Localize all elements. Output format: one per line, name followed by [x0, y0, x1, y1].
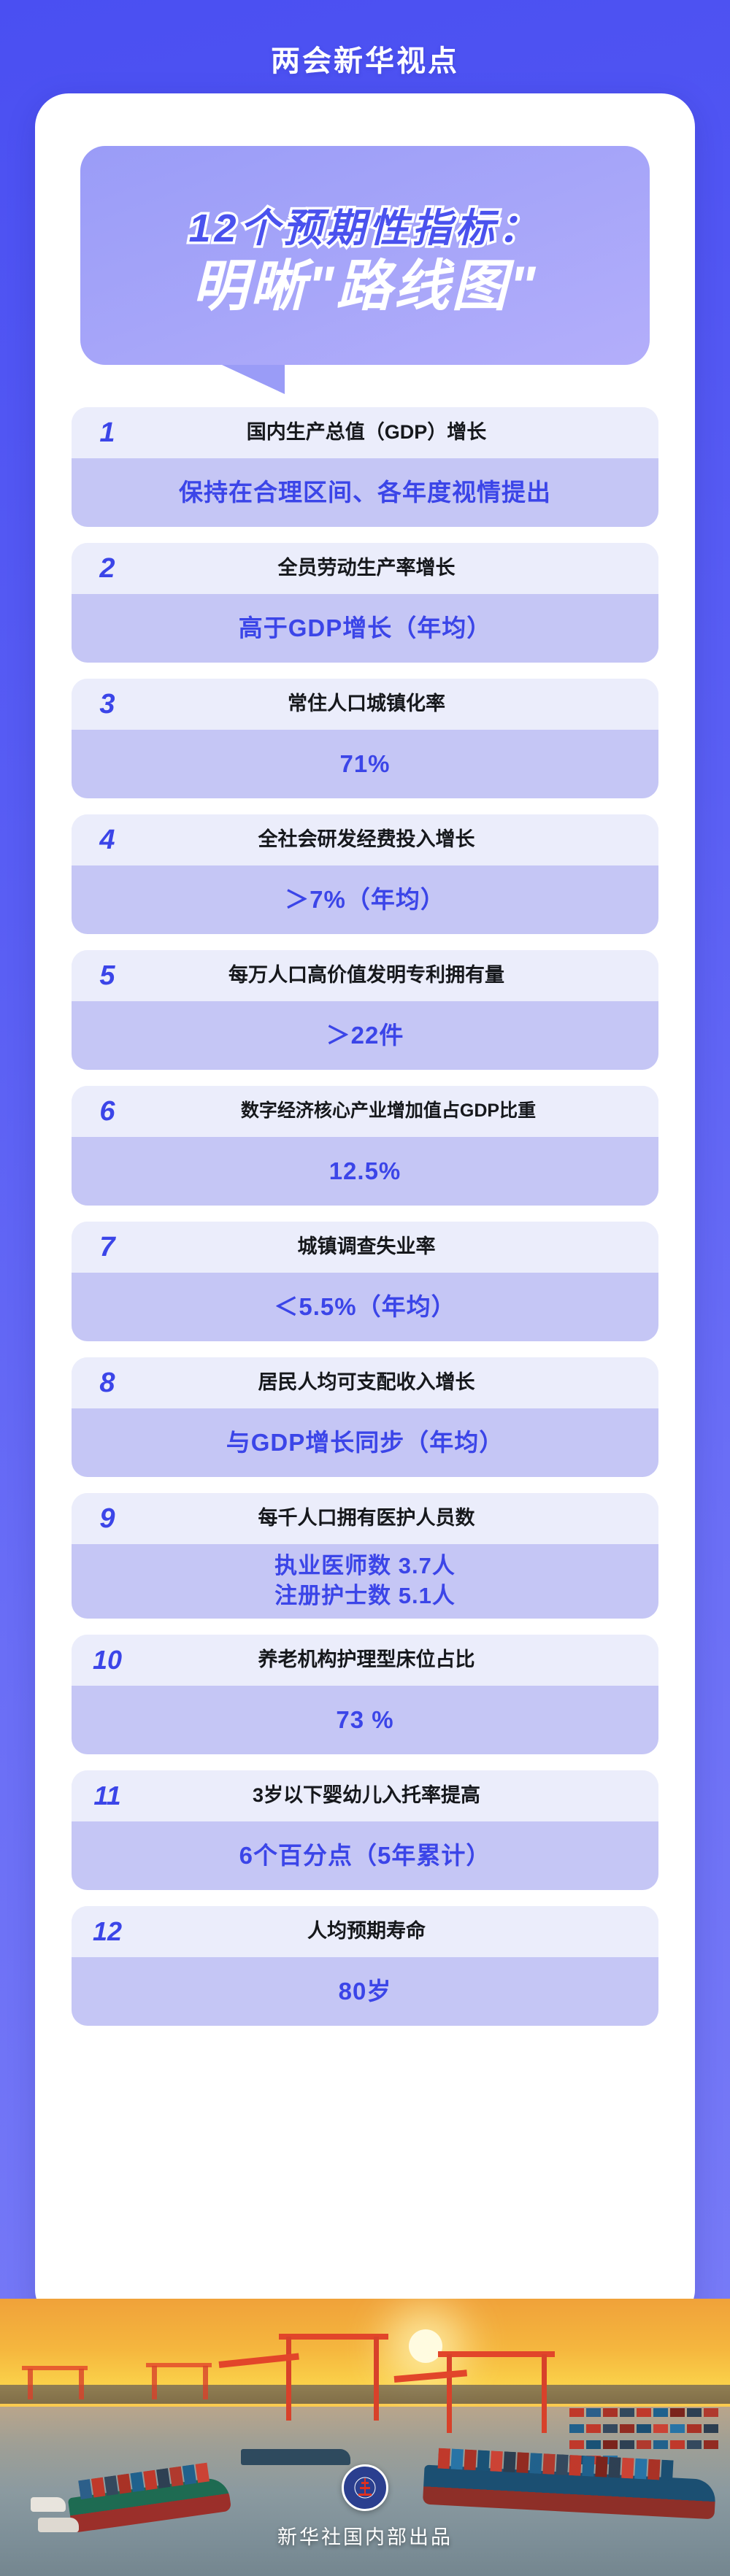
indicator-label: 常住人口城镇化率	[137, 692, 647, 717]
crane-leg	[203, 2366, 208, 2399]
indicator-header: 10养老机构护理型床位占比	[72, 1635, 658, 1686]
crane-leg	[28, 2369, 33, 2399]
indicator-label: 全员劳动生产率增长	[137, 556, 647, 581]
indicator-item: 9每千人口拥有医护人员数执业医师数 3.7人 注册护士数 5.1人	[72, 1493, 658, 1619]
indicator-item: 7城镇调查失业率＜5.5%（年均）	[72, 1222, 658, 1341]
indicator-item: 12人均预期寿命80岁	[72, 1906, 658, 2026]
infographic-page: 两会新华视点 12个预期性指标： 明晰"路线图" 1国内生产总值（GDP）增长保…	[0, 0, 730, 2576]
indicator-item: 10养老机构护理型床位占比73 %	[72, 1635, 658, 1754]
indicator-header: 2全员劳动生产率增长	[72, 543, 658, 594]
indicator-item: 2全员劳动生产率增长高于GDP增长（年均）	[72, 543, 658, 663]
indicator-value-row: ＞22件	[72, 1001, 658, 1070]
indicator-number: 11	[77, 1781, 137, 1811]
indicator-label: 城镇调查失业率	[137, 1235, 647, 1260]
indicator-value-row: 与GDP增长同步（年均）	[72, 1408, 658, 1477]
indicator-header: 6数字经济核心产业增加值占GDP比重	[72, 1086, 658, 1137]
indicator-header: 5每万人口高价值发明专利拥有量	[72, 950, 658, 1001]
indicator-value-row: 高于GDP增长（年均）	[72, 594, 658, 663]
indicator-label: 数字经济核心产业增加值占GDP比重	[137, 1100, 647, 1122]
crane-leg	[152, 2366, 157, 2399]
title-line-1: 12个预期性指标：	[188, 196, 541, 253]
header-title: 两会新华视点	[271, 37, 459, 80]
indicator-number: 4	[77, 825, 137, 856]
indicator-header: 4全社会研发经费投入增长	[72, 814, 658, 865]
indicator-list: 1国内生产总值（GDP）增长保持在合理区间、各年度视情提出2全员劳动生产率增长高…	[72, 407, 658, 2042]
indicator-value: 保持在合理区间、各年度视情提出	[179, 477, 551, 509]
gantry-crane	[279, 2334, 388, 2340]
indicator-item: 4全社会研发经费投入增长＞7%（年均）	[72, 814, 658, 934]
footer-text: 新华社国内部出品	[277, 2521, 453, 2550]
indicator-number: 9	[77, 1503, 137, 1535]
indicator-header: 9每千人口拥有医护人员数	[72, 1493, 658, 1544]
indicator-label: 每千人口拥有医护人员数	[137, 1506, 647, 1531]
indicator-item: 1国内生产总值（GDP）增长保持在合理区间、各年度视情提出	[72, 407, 658, 527]
indicator-value-row: 12.5%	[72, 1137, 658, 1206]
indicator-item: 113岁以下婴幼儿入托率提高6个百分点（5年累计）	[72, 1770, 658, 1890]
indicator-value: 12.5%	[329, 1155, 401, 1187]
crane-leg	[286, 2337, 291, 2421]
indicator-value-row: ＞7%（年均）	[72, 865, 658, 934]
indicator-value-row: 80岁	[72, 1957, 658, 2026]
footer: 新华社国内部出品	[0, 2464, 730, 2550]
crane-leg	[542, 2354, 547, 2433]
barge	[241, 2449, 350, 2465]
indicator-value-row: 保持在合理区间、各年度视情提出	[72, 458, 658, 527]
indicator-value: ＞22件	[326, 1019, 404, 1052]
indicator-label: 每万人口高价值发明专利拥有量	[137, 963, 647, 988]
crane-leg	[374, 2337, 379, 2421]
indicator-header: 113岁以下婴幼儿入托率提高	[72, 1770, 658, 1821]
indicator-value-row: 执业医师数 3.7人 注册护士数 5.1人	[72, 1544, 658, 1619]
indicator-header: 7城镇调查失业率	[72, 1222, 658, 1273]
indicator-header: 8居民人均可支配收入增长	[72, 1357, 658, 1408]
indicator-label: 国内生产总值（GDP）增长	[137, 420, 647, 445]
indicator-value-row: 6个百分点（5年累计）	[72, 1821, 658, 1890]
indicator-number: 2	[77, 553, 137, 585]
indicator-item: 6数字经济核心产业增加值占GDP比重12.5%	[72, 1086, 658, 1206]
far-shore	[0, 2385, 730, 2404]
title-line-2: 明晰"路线图"	[192, 258, 537, 316]
indicator-value-row: ＜5.5%（年均）	[72, 1273, 658, 1341]
indicator-value: 6个百分点（5年累计）	[239, 1840, 491, 1872]
indicator-item: 8居民人均可支配收入增长与GDP增长同步（年均）	[72, 1357, 658, 1477]
indicator-number: 3	[77, 689, 137, 720]
indicator-value-row: 73 %	[72, 1686, 658, 1754]
indicator-header: 12人均预期寿命	[72, 1906, 658, 1957]
content-panel: 12个预期性指标： 明晰"路线图" 1国内生产总值（GDP）增长保持在合理区间、…	[35, 93, 695, 2319]
indicator-value: ＜5.5%（年均）	[274, 1291, 456, 1323]
indicator-number: 10	[77, 1645, 137, 1675]
indicator-number: 6	[77, 1096, 137, 1127]
indicator-label: 居民人均可支配收入增长	[137, 1370, 647, 1395]
indicator-number: 1	[77, 417, 137, 449]
indicator-value: 执业医师数 3.7人 注册护士数 5.1人	[274, 1551, 456, 1611]
indicator-number: 5	[77, 960, 137, 992]
indicator-value: ＞7%（年均）	[285, 884, 445, 916]
port-photo: 新华社国内部出品	[0, 2299, 730, 2576]
indicator-label: 3岁以下婴幼儿入托率提高	[137, 1783, 647, 1808]
indicator-value: 80岁	[339, 1975, 392, 2008]
indicator-label: 全社会研发经费投入增长	[137, 828, 647, 852]
gantry-crane	[438, 2351, 555, 2357]
indicator-header: 3常住人口城镇化率	[72, 679, 658, 730]
sun	[409, 2329, 442, 2363]
indicator-number: 7	[77, 1232, 137, 1263]
indicator-item: 5每万人口高价值发明专利拥有量＞22件	[72, 950, 658, 1070]
crane-leg	[447, 2354, 452, 2433]
crane-leg	[79, 2369, 84, 2399]
indicator-item: 3常住人口城镇化率71%	[72, 679, 658, 798]
title-card: 12个预期性指标： 明晰"路线图"	[80, 146, 650, 365]
indicator-label: 养老机构护理型床位占比	[137, 1648, 647, 1673]
indicator-value: 高于GDP增长（年均）	[239, 612, 492, 644]
indicator-value: 73 %	[336, 1704, 393, 1736]
indicator-number: 8	[77, 1368, 137, 1399]
indicator-header: 1国内生产总值（GDP）增长	[72, 407, 658, 458]
indicator-label: 人均预期寿命	[137, 1919, 647, 1944]
indicator-value-row: 71%	[72, 730, 658, 798]
indicator-value: 71%	[339, 748, 390, 780]
xinhua-logo-icon	[342, 2464, 388, 2511]
indicator-value: 与GDP增长同步（年均）	[226, 1427, 504, 1459]
indicator-number: 12	[77, 1916, 137, 1947]
